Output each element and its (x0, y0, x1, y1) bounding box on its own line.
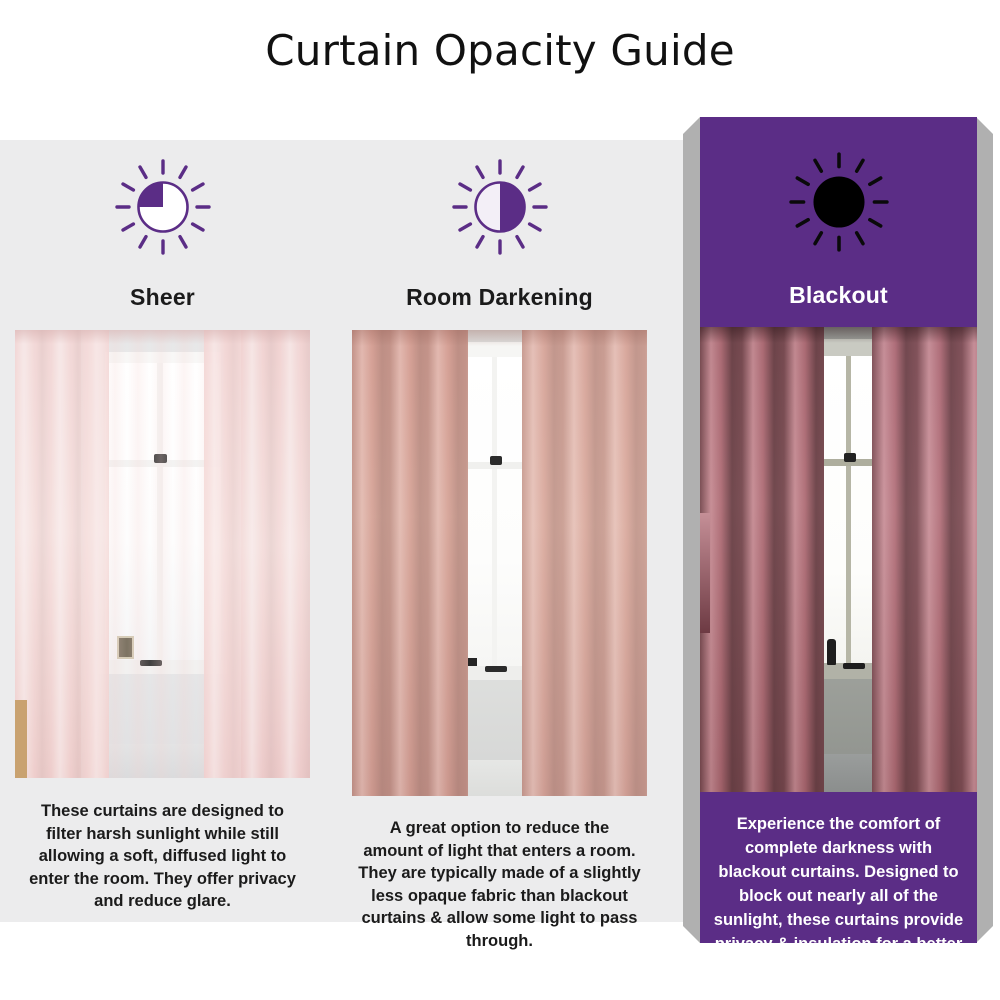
photo-window-mullion-vertical (846, 355, 851, 665)
photo-chair-leg (15, 700, 27, 778)
sun-half-icon-svg (452, 159, 548, 255)
photo-sheer-veil (81, 330, 241, 778)
column-blackout[interactable]: Blackout Experience the comfort of (700, 117, 977, 980)
photo-tieback (700, 513, 710, 633)
column-room-darkening[interactable]: Room Darkening A great option to reduce … (352, 140, 647, 953)
sun-quarter-icon (15, 152, 310, 262)
photo-drape-header (700, 327, 977, 343)
photo-window (818, 355, 880, 665)
photo-sheer (15, 330, 310, 778)
photo-drape-right (522, 330, 647, 796)
photo-window (464, 356, 526, 668)
photo-drape-left (352, 330, 468, 796)
description-blackout: Experience the comfort of complete darkn… (700, 812, 977, 980)
photo-drape-header (352, 330, 647, 346)
photo-room-darkening (352, 330, 647, 796)
sun-full-icon (700, 142, 977, 262)
photo-sill-handle (843, 663, 865, 669)
photo-blackout (700, 327, 977, 792)
photo-drape-left (700, 327, 824, 792)
photo-window-latch (490, 456, 502, 465)
infographic-root: Curtain Opacity Guide (0, 0, 1000, 1000)
description-room-darkening: A great option to reduce the amount of l… (352, 817, 647, 953)
photo-window-mullion-vertical (492, 356, 497, 668)
column-sheer[interactable]: Sheer These curtains (15, 140, 310, 913)
description-sheer: These curtains are designed to filter ha… (15, 800, 310, 913)
page-title: Curtain Opacity Guide (0, 20, 1000, 82)
category-label-room-darkening: Room Darkening (352, 284, 647, 311)
photo-window-latch (844, 453, 856, 462)
sun-half-icon (352, 152, 647, 262)
category-label-sheer: Sheer (15, 284, 310, 311)
category-label-blackout: Blackout (700, 282, 977, 309)
sun-full-icon-svg (789, 152, 889, 252)
photo-drape-header (15, 330, 310, 344)
photo-drape-right (872, 327, 977, 792)
photo-sill-bottle (827, 639, 836, 665)
sun-quarter-icon-svg (115, 159, 211, 255)
photo-sill-handle (485, 666, 507, 672)
